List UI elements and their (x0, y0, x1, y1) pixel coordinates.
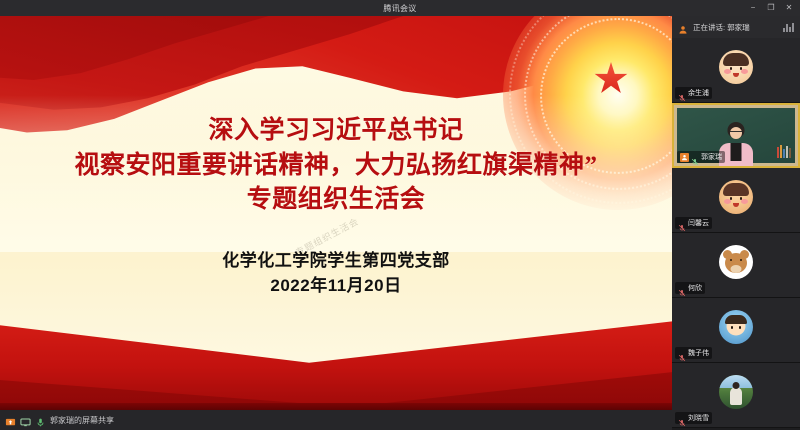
microphone-muted-icon (678, 284, 686, 292)
slide-title-line-2: 视察安阳重要讲话精神，大力弘扬红旗渠精神” (74, 149, 597, 184)
avatar (719, 50, 753, 84)
presentation-slide: 专题组织生活会 深入学习习近平总书记 视察安阳重要讲话精神，大力弘扬红旗渠精神”… (0, 16, 672, 410)
screen-share-status-bar: 郭家瑞的屏幕共享 (0, 410, 672, 430)
participant-tile[interactable]: 魏子伟 (672, 298, 800, 363)
window-title: 腾讯会议 (383, 3, 416, 14)
slide-subtitle: 化学化工学院学生第四党支部 (222, 248, 450, 274)
minimize-button[interactable]: − (744, 0, 762, 16)
participant-badge: 郭家瑞 (677, 151, 725, 163)
bookshelf-decoration (777, 145, 791, 158)
participant-badge: 闫馨云 (675, 217, 712, 229)
tencent-meeting-window: 腾讯会议 − ❐ ✕ 专题组织生活会 深入学习习近平总书记 视察安阳重要讲话 (0, 0, 800, 430)
participant-badge: 刘晓雪 (675, 412, 712, 424)
window-titlebar[interactable]: 腾讯会议 − ❐ ✕ (0, 0, 800, 16)
slide-text-block: 深入学习习近平总书记 视察安阳重要讲话精神，大力弘扬红旗渠精神” 专题组织生活会… (0, 16, 672, 410)
participant-name: 余生浦 (688, 88, 709, 98)
active-speaker-label: 正在讲话: 郭家瑞 (693, 22, 750, 33)
share-status-label: 郭家瑞的屏幕共享 (50, 415, 114, 426)
participant-tile[interactable]: 何欣 (672, 233, 800, 298)
participant-tile[interactable]: 余生浦 (672, 38, 800, 103)
microphone-icon (35, 415, 46, 426)
microphone-muted-icon (678, 219, 686, 227)
participant-tile[interactable]: 刘晓雪 (672, 363, 800, 428)
participant-badge: 余生浦 (675, 87, 712, 99)
participant-badge: 何欣 (675, 282, 705, 294)
slide-title-line-1: 深入学习习近平总书记 (208, 114, 463, 149)
microphone-muted-icon (691, 153, 699, 161)
participant-name: 魏子伟 (688, 348, 709, 358)
participants-sidebar: 正在讲话: 郭家瑞 余生浦 (672, 16, 800, 430)
speaking-person-icon (678, 22, 689, 33)
participant-tile[interactable]: 郭家瑞 (672, 103, 800, 168)
close-button[interactable]: ✕ (780, 0, 798, 16)
participant-name: 刘晓雪 (688, 413, 709, 423)
host-icon (680, 153, 689, 162)
participant-name: 何欣 (688, 283, 702, 293)
audio-level-indicator (783, 23, 794, 32)
microphone-muted-icon (678, 414, 686, 422)
avatar (719, 245, 753, 279)
participant-badge: 魏子伟 (675, 347, 712, 359)
share-screen-icon (5, 415, 16, 426)
participant-name: 闫馨云 (688, 218, 709, 228)
participant-name: 郭家瑞 (701, 152, 722, 162)
avatar (719, 375, 753, 409)
shared-screen-stage[interactable]: 专题组织生活会 深入学习习近平总书记 视察安阳重要讲话精神，大力弘扬红旗渠精神”… (0, 16, 672, 410)
participant-tile[interactable]: 闫馨云 (672, 168, 800, 233)
microphone-muted-icon (678, 349, 686, 357)
monitor-icon (20, 415, 31, 426)
microphone-muted-icon (678, 89, 686, 97)
slide-date: 2022年11月20日 (270, 273, 401, 299)
avatar (719, 310, 753, 344)
slide-title-line-3: 专题组织生活会 (247, 183, 426, 218)
window-controls: − ❐ ✕ (744, 0, 798, 16)
avatar (719, 180, 753, 214)
active-speaker-bar: 正在讲话: 郭家瑞 (672, 16, 800, 38)
maximize-button[interactable]: ❐ (762, 0, 780, 16)
